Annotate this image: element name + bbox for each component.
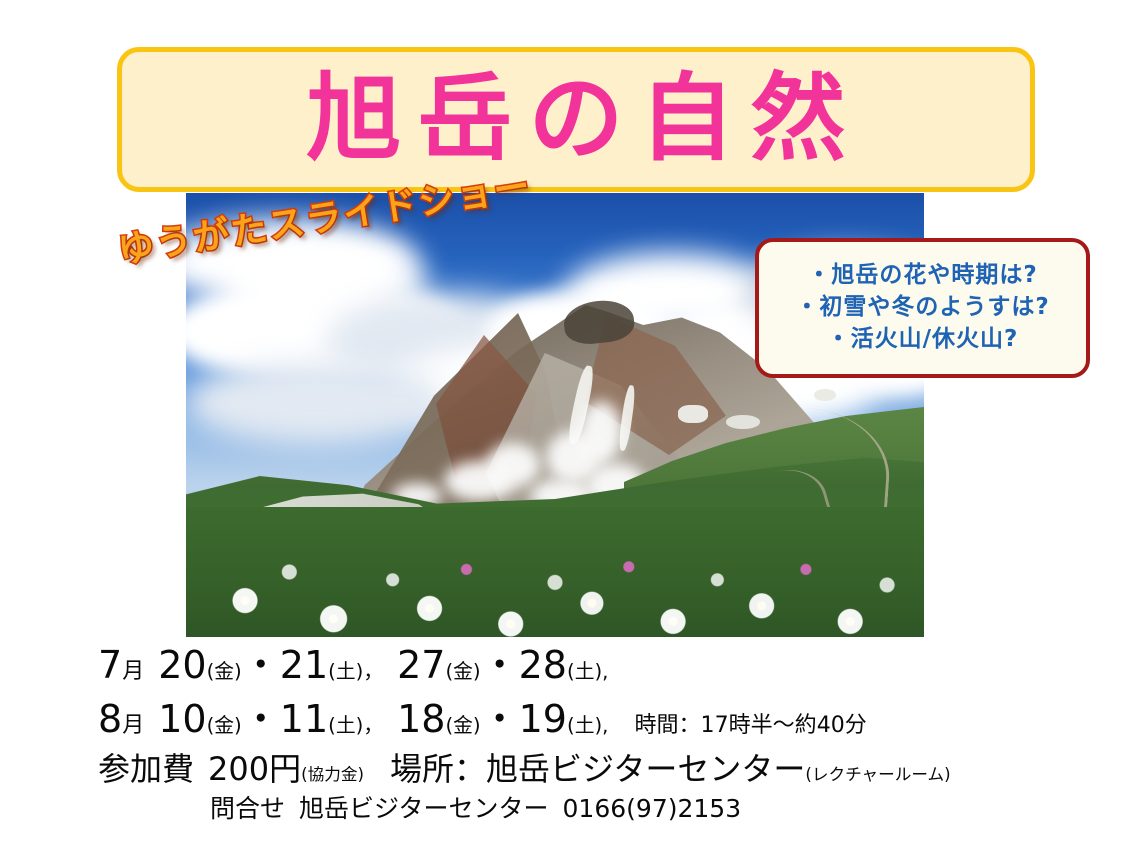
- day-28: 28: [519, 643, 567, 687]
- day-27: 27: [397, 643, 445, 687]
- comma-1: ，: [363, 660, 383, 683]
- title-banner: 旭岳の自然: [117, 47, 1035, 192]
- fee-label: 参加費: [98, 750, 194, 788]
- day-18: 18: [397, 697, 445, 741]
- snow-patch: [678, 405, 708, 423]
- comma-2: ,: [602, 660, 608, 683]
- schedule-line-july: 7月20(金)・21(土)，27(金)・28(土),: [98, 646, 608, 684]
- fee-note: (協力金): [301, 765, 364, 784]
- august-month-number: 8: [98, 697, 122, 741]
- dow-27: (金): [445, 660, 480, 683]
- july-month-number: 7: [98, 643, 122, 687]
- sep-3: ・: [242, 697, 280, 741]
- place-label: 場所：: [390, 750, 486, 788]
- dow-19: (土): [567, 714, 602, 737]
- sep-2: ・: [481, 643, 519, 687]
- day-20: 20: [158, 643, 206, 687]
- schedule-line-august: 8月10(金)・11(土)，18(金)・19(土),時間：17時半～約40分: [98, 700, 867, 738]
- dow-21: (土): [328, 660, 363, 683]
- dow-11: (土): [328, 714, 363, 737]
- fumarole-steam: [580, 401, 622, 463]
- question-callout: ・旭岳の花や時期は? ・初雪や冬のようすは? ・活火山/休火山?: [755, 238, 1090, 378]
- contact-phone: 0166(97)2153: [563, 794, 742, 823]
- place-note: (レクチャールーム): [805, 765, 950, 784]
- time-label: 時間：: [634, 713, 700, 738]
- comma-3: ，: [363, 714, 383, 737]
- time-value: 17時半～約40分: [701, 713, 867, 738]
- callout-line-1: ・旭岳の花や時期は?: [807, 260, 1037, 292]
- fee-value: 200円: [208, 750, 301, 788]
- august-month-label: 月: [122, 713, 144, 738]
- place-value: 旭岳ビジターセンター: [486, 750, 805, 788]
- july-month-label: 月: [122, 659, 144, 684]
- callout-line-2: ・初雪や冬のようすは?: [795, 292, 1049, 324]
- comma-4: ,: [602, 714, 608, 737]
- day-11: 11: [280, 697, 328, 741]
- page-title: 旭岳の自然: [290, 72, 861, 167]
- contact-label: 問合せ: [210, 794, 285, 823]
- snow-patch: [814, 389, 836, 401]
- day-10: 10: [158, 697, 206, 741]
- day-19: 19: [519, 697, 567, 741]
- poster-root: 旭岳の自然: [0, 0, 1137, 853]
- dow-18: (金): [445, 714, 480, 737]
- flower-foreground: [186, 507, 924, 637]
- dow-10: (金): [207, 714, 242, 737]
- contact-org: 旭岳ビジターセンター: [299, 794, 549, 823]
- dow-20: (金): [207, 660, 242, 683]
- fee-and-place-line: 参加費200円(協力金)場所：旭岳ビジターセンター(レクチャールーム): [98, 753, 951, 785]
- day-21: 21: [280, 643, 328, 687]
- sep-1: ・: [242, 643, 280, 687]
- contact-line: 問合せ旭岳ビジターセンター0166(97)2153: [210, 796, 741, 821]
- sep-4: ・: [481, 697, 519, 741]
- callout-line-3: ・活火山/休火山?: [827, 324, 1019, 356]
- dow-28: (土): [567, 660, 602, 683]
- fumarole-steam: [486, 443, 540, 487]
